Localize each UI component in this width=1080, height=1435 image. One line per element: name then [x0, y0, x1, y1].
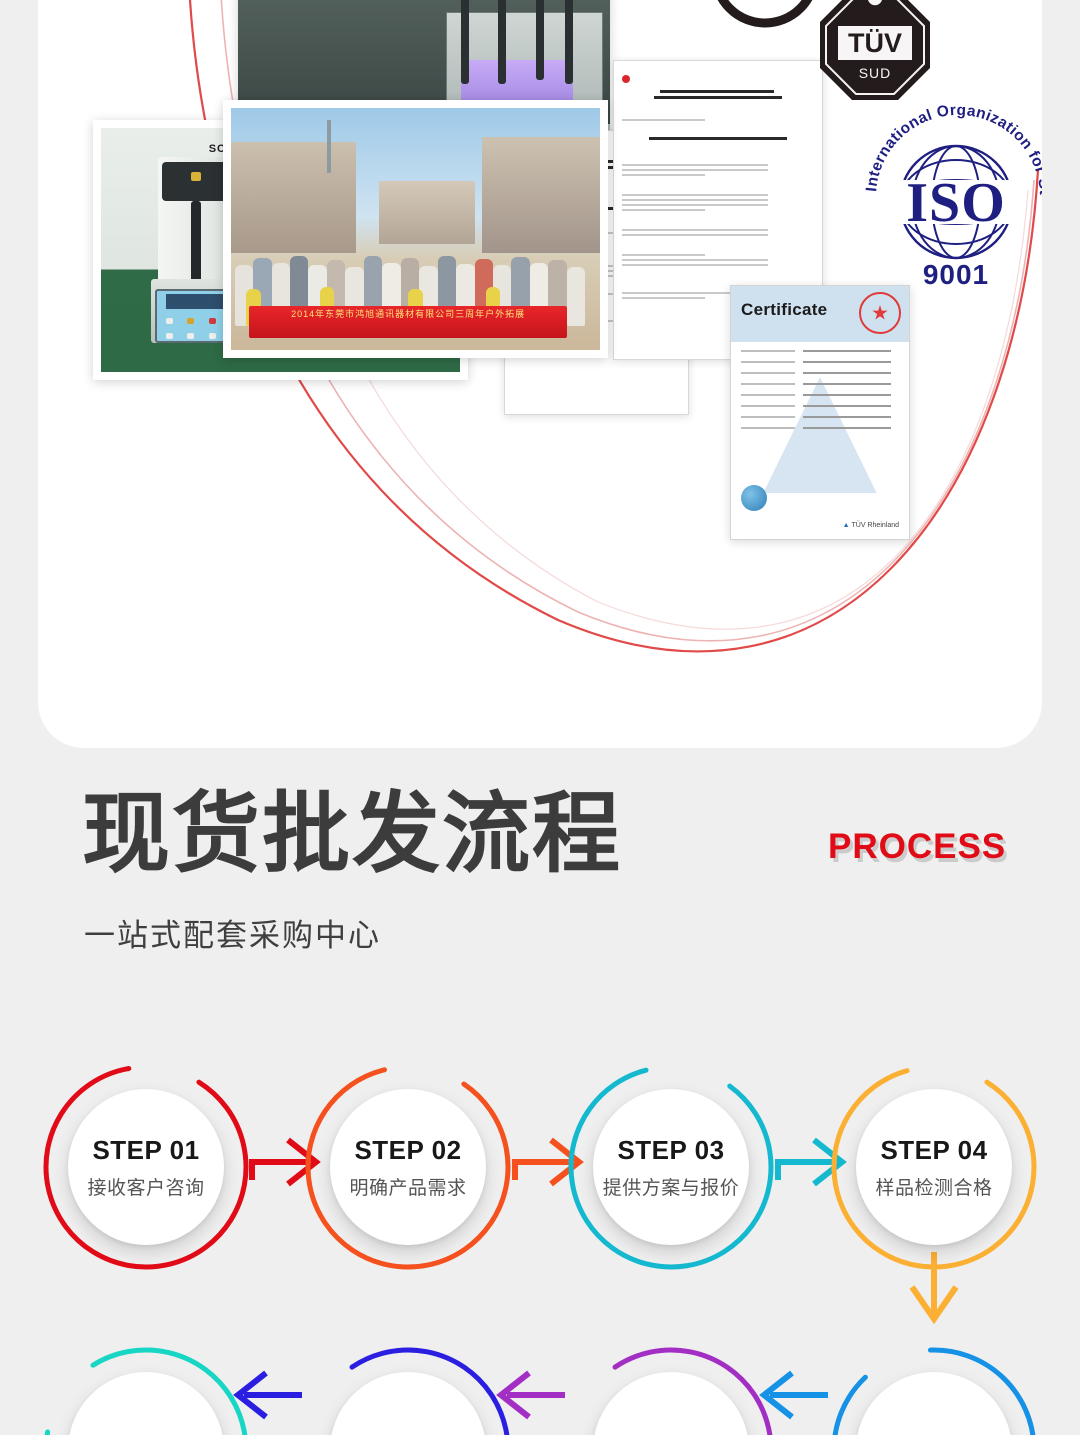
process-step-6[interactable]: STEP 06: [566, 1345, 776, 1435]
step-label: 样品检测合格: [875, 1173, 992, 1200]
svg-text:ISO: ISO: [906, 172, 1006, 234]
step-number: STEP 02: [354, 1135, 461, 1166]
process-step-2[interactable]: STEP 02 明确产品需求: [303, 1062, 513, 1272]
process-step-8[interactable]: STEP 08: [41, 1345, 251, 1435]
page-title-english: PROCESS: [828, 827, 1006, 867]
process-step-4[interactable]: STEP 04 样品检测合格: [829, 1062, 1039, 1272]
step-number: STEP 05: [880, 1431, 987, 1435]
tuv-sud-mark-icon: TÜV SUD: [816, 0, 934, 104]
step-disc: STEP 02 明确产品需求: [330, 1089, 486, 1245]
globe-icon: [741, 485, 767, 511]
step-number: STEP 03: [617, 1135, 724, 1166]
ul-mark-icon: UL: [710, 0, 820, 28]
svg-text:SUD: SUD: [859, 65, 892, 81]
page-title: 现货批发流程: [82, 790, 622, 878]
tuv-rheinland-logo: TÜV Rheinland: [843, 522, 899, 529]
product-detail-page: SCTMC: [0, 0, 1080, 1435]
team-group-photo: 2014年东莞市鸿旭通讯器材有限公司三周年户外拓展: [223, 100, 608, 358]
process-flow-diagram: STEP 01 接收客户咨询 STEP 02 明确产品需求 STEP 03 提供…: [0, 1040, 1080, 1435]
group-photo-banner: 2014年东莞市鸿旭通讯器材有限公司三周年户外拓展: [249, 306, 566, 337]
group-photo-banner-text: 2014年东莞市鸿旭通讯器材有限公司三周年户外拓展: [249, 306, 566, 319]
step-number: STEP 04: [880, 1135, 987, 1166]
process-step-5[interactable]: STEP 05: [829, 1345, 1039, 1435]
step-label: 接收客户咨询: [87, 1173, 204, 1200]
iso-ts-certificate: Certificate TÜV Rheinland: [730, 285, 910, 540]
step-disc: STEP 03 提供方案与报价: [593, 1089, 749, 1245]
process-step-7[interactable]: STEP 07: [303, 1345, 513, 1435]
svg-text:TÜV: TÜV: [848, 28, 902, 58]
step-label: 明确产品需求: [349, 1173, 466, 1200]
certificate-title: Certificate: [741, 300, 827, 320]
step-number: STEP 07: [354, 1431, 461, 1435]
process-step-1[interactable]: STEP 01 接收客户咨询: [41, 1062, 251, 1272]
step-disc: STEP 04 样品检测合格: [856, 1089, 1012, 1245]
red-star-stamp-icon: [859, 292, 901, 334]
step-number: STEP 08: [92, 1431, 199, 1435]
iso-9001-mark-icon: International Organization for Standardi…: [856, 92, 1042, 292]
process-step-3[interactable]: STEP 03 提供方案与报价: [566, 1062, 776, 1272]
step-disc: STEP 01 接收客户咨询: [68, 1089, 224, 1245]
step-number: STEP 06: [617, 1431, 724, 1435]
page-subtitle: 一站式配套采购中心: [84, 910, 381, 955]
step-number: STEP 01: [92, 1135, 199, 1166]
step-label: 提供方案与报价: [603, 1173, 740, 1200]
certification-collage-card: SCTMC: [38, 0, 1042, 748]
svg-text:9001: 9001: [923, 259, 989, 290]
svg-text:UL: UL: [722, 0, 808, 8]
